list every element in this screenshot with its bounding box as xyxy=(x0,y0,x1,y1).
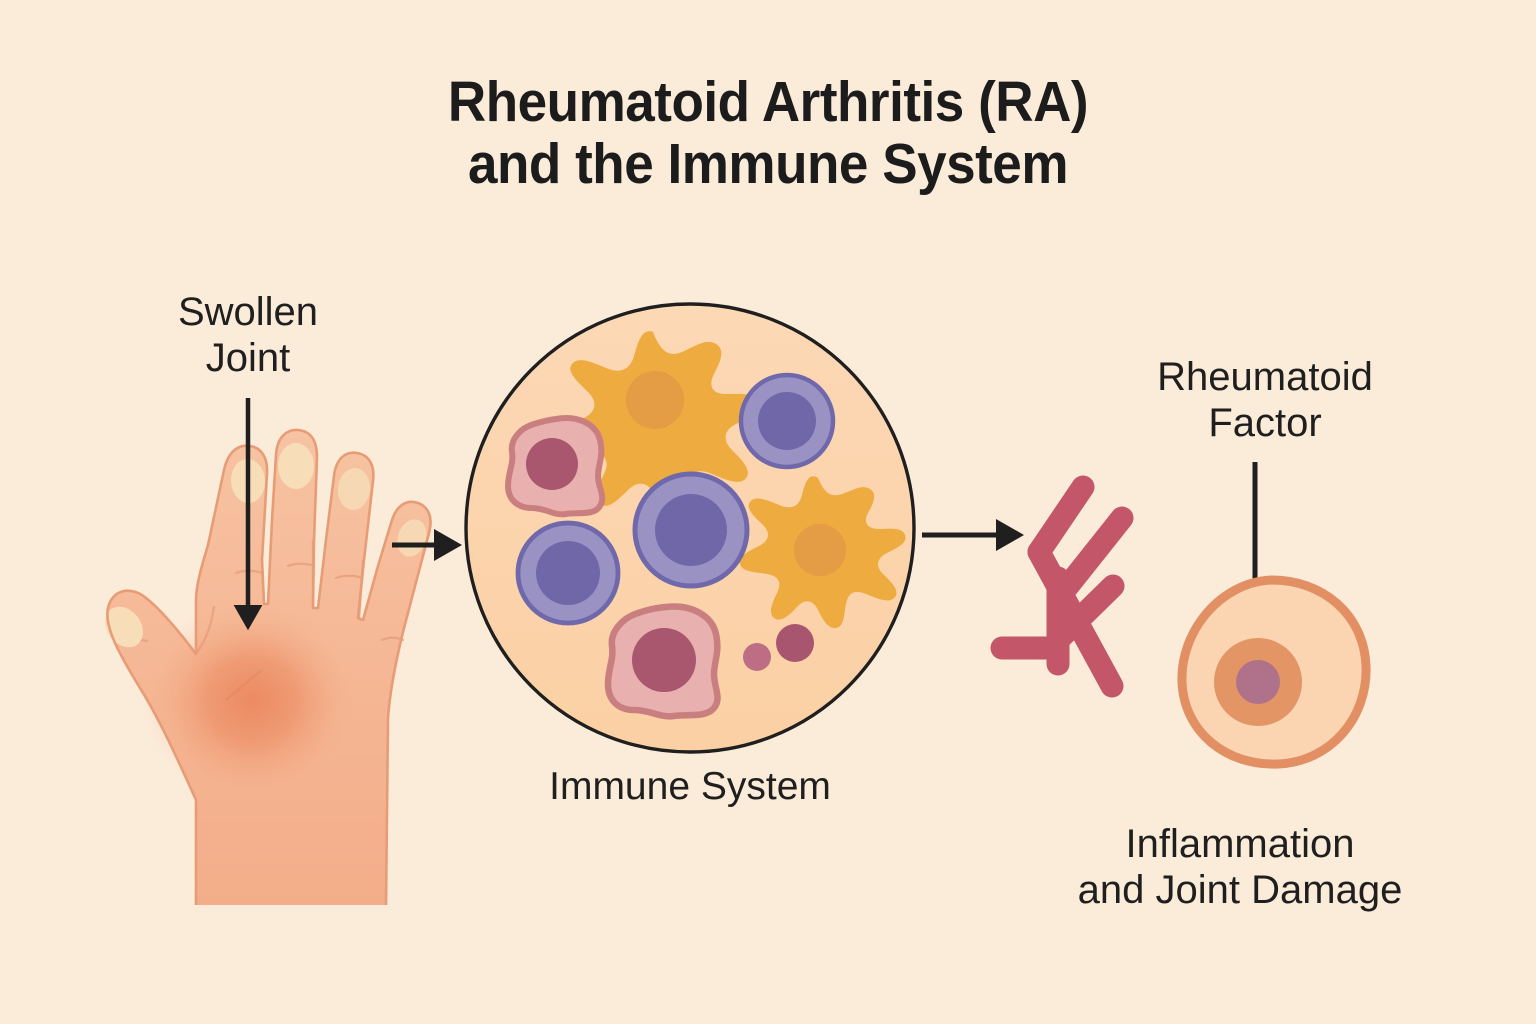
swollen-joint-hand xyxy=(97,430,431,905)
monocyte-nucleus xyxy=(632,628,696,692)
monocyte-nucleus xyxy=(526,438,578,490)
antibody-arm-upper-left xyxy=(1039,487,1083,552)
inflammation-cell xyxy=(1182,580,1366,764)
lymphocyte-cell-lower-left xyxy=(518,523,618,623)
lymphocyte-nucleus xyxy=(758,392,816,450)
macrophage-nucleus xyxy=(794,524,846,576)
infographic-canvas: Rheumatoid Arthritis (RA) and the Immune… xyxy=(0,0,1536,1024)
lymphocyte-cell-center xyxy=(635,474,747,586)
cytokine-dot-small xyxy=(743,643,771,671)
label-swollen-joint: Swollen Joint xyxy=(68,290,428,381)
cytokine-dot-large xyxy=(776,624,814,662)
lymphocyte-cell-upper-right xyxy=(741,375,833,467)
label-rheumatoid-factor: Rheumatoid Factor xyxy=(1090,355,1440,446)
monocyte-cell-lower-center xyxy=(608,607,718,717)
macrophage-nucleus xyxy=(626,371,684,429)
monocyte-cell-upper-left xyxy=(508,418,602,514)
lymphocyte-nucleus xyxy=(536,541,600,605)
label-immune-system: Immune System xyxy=(490,765,890,809)
label-inflammation-joint-damage: Inflammation and Joint Damage xyxy=(1000,822,1480,913)
immune-system-circle xyxy=(466,304,914,752)
inflammation-cell-nucleus xyxy=(1236,660,1280,704)
lymphocyte-nucleus xyxy=(655,494,727,566)
rheumatoid-factor-antibody xyxy=(1002,487,1122,686)
